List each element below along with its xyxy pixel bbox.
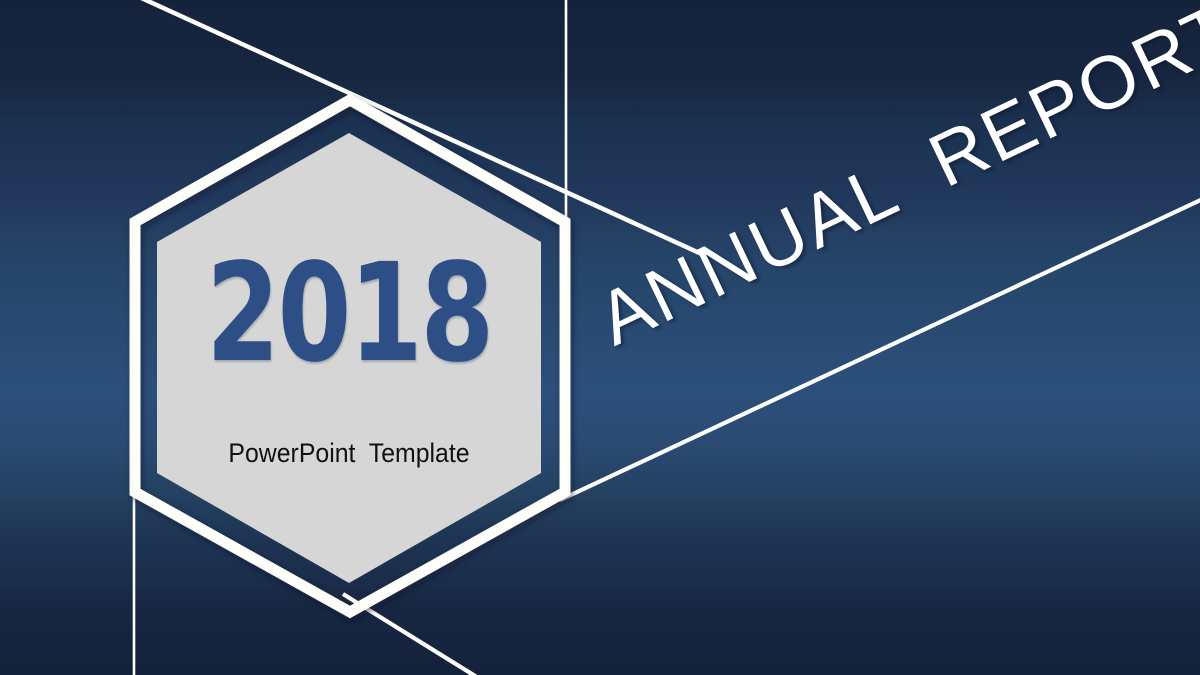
subtitle-label: PowerPoint Template (172, 437, 525, 469)
slide-canvas: 2018 PowerPoint Template ANNUAL REPORT (0, 0, 1200, 675)
year-label: 2018 (199, 246, 499, 382)
